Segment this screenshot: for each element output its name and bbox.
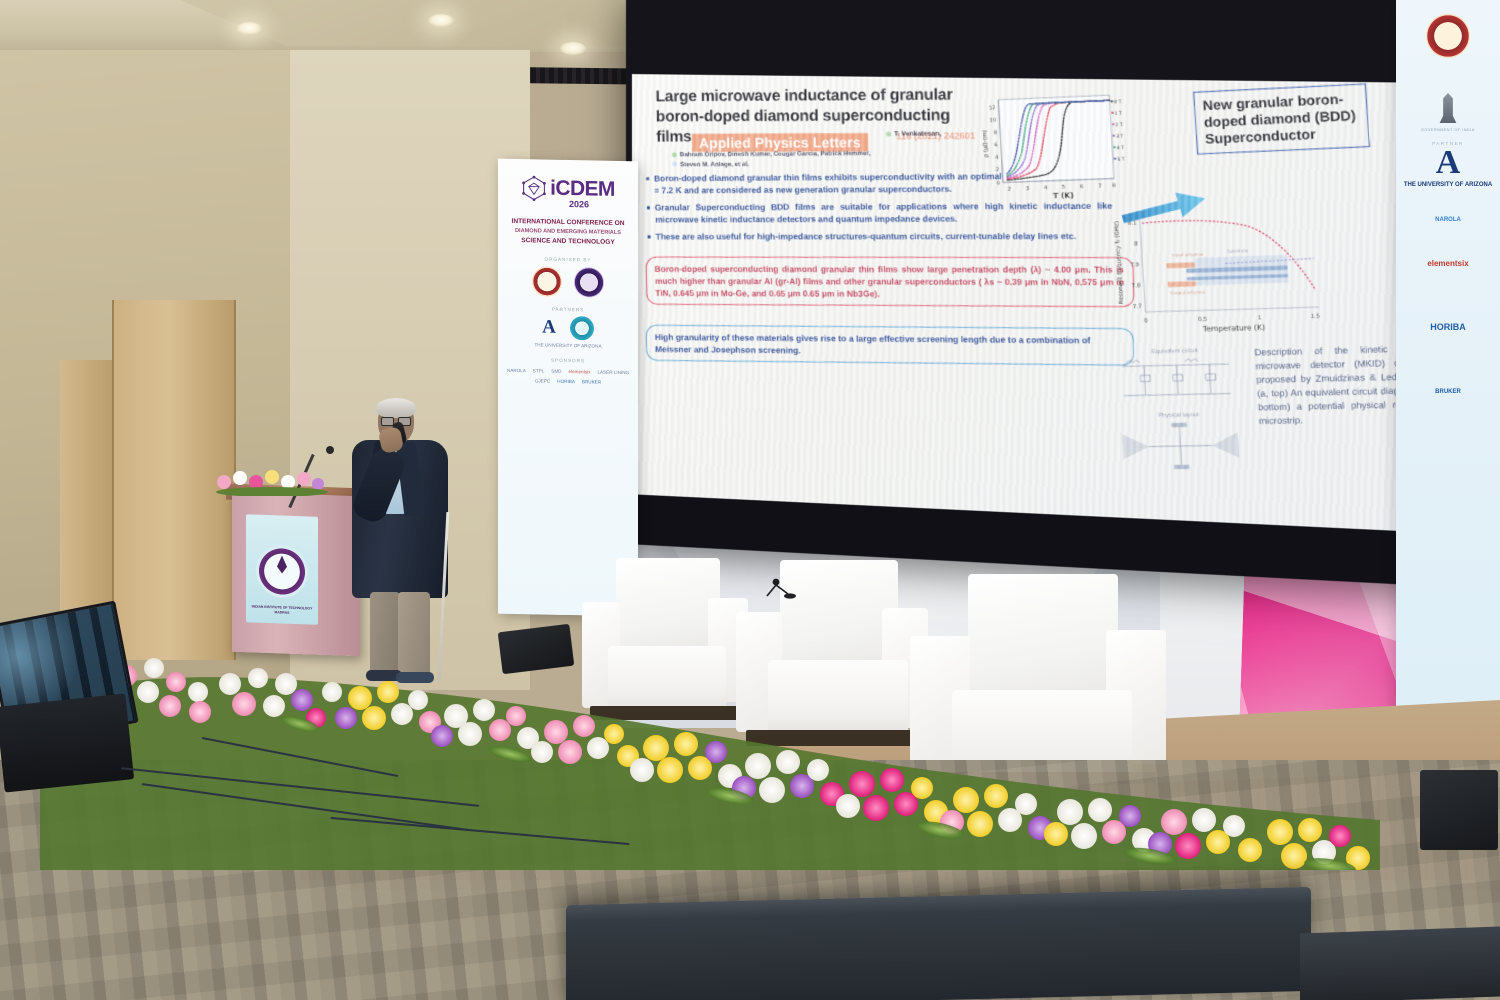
svg-text:3 T: 3 T: [1116, 133, 1124, 140]
svg-text:Input antenna: Input antenna: [1172, 251, 1204, 257]
svg-text:0: 0: [1144, 318, 1148, 324]
speaker-hair: [376, 398, 416, 418]
highlight-box-red: Boron-doped superconducting diamond gran…: [645, 257, 1134, 307]
svg-text:7: 7: [1098, 183, 1102, 189]
downlight-icon: [236, 22, 262, 35]
sponsor-logo: NAROLA: [507, 368, 526, 373]
author-marker-icon: [672, 152, 677, 157]
stage-speaker-box: [498, 624, 575, 674]
partner-name: THE UNIVERSITY OF ARIZONA: [498, 342, 638, 350]
svg-text:2 T: 2 T: [1115, 122, 1123, 129]
svg-text:8: 8: [994, 130, 998, 136]
projection-screen: Large microwave inductance of granular b…: [626, 0, 1468, 588]
svg-text:4: 4: [1044, 185, 1048, 191]
stage-speaker-box: [1420, 770, 1498, 850]
conference-photograph: Large microwave inductance of granular b…: [0, 0, 1500, 1000]
svg-text:1: 1: [1258, 315, 1262, 321]
institute-emblem-icon: [532, 266, 562, 297]
diamond-hexagon-icon: [521, 175, 547, 201]
svg-text:2: 2: [1008, 186, 1012, 192]
arizona-logo-icon: A: [542, 317, 556, 339]
foreground-monitor-secondary[interactable]: [1300, 927, 1500, 1000]
svg-text:8: 8: [1112, 183, 1116, 189]
physical-layout-svg: [1119, 418, 1242, 477]
presentation-slide: Large microwave inductance of granular b…: [632, 74, 1461, 534]
blue-box-text: High granularity of these materials give…: [655, 331, 1125, 360]
sponsor-logo: SMD: [551, 369, 561, 374]
equivalent-circuit-svg: [1115, 353, 1238, 404]
svg-text:7.9: 7.9: [1130, 262, 1139, 269]
society-emblem-icon: [574, 267, 604, 298]
svg-text:1.5: 1.5: [1310, 313, 1320, 320]
government-emblem-icon: [1437, 93, 1459, 123]
svg-text:0 T: 0 T: [1114, 99, 1122, 106]
author-marker-icon: [886, 131, 891, 136]
icdem-acronym: iCDEM: [550, 177, 615, 202]
svg-text:4: 4: [995, 155, 999, 161]
sponsor-logo: NAROLA: [1396, 217, 1500, 225]
sponsor-logo: HORIBA: [1396, 322, 1500, 334]
svg-text:3: 3: [1026, 186, 1030, 192]
sponsor-logo: elementsix: [1396, 259, 1500, 269]
authors-block: Bahram Oripov, Dinesh Kumar, Cougar Garc…: [672, 148, 970, 169]
svg-text:T (K): T (K): [1053, 191, 1074, 200]
downlight-icon: [428, 14, 454, 27]
chart-resistivity-svg: 02 46 810 12 234 567 8 T (K) ρ (μΩ·cm): [975, 90, 1142, 208]
microphone-icon: [326, 446, 334, 454]
podium-flowers: [212, 466, 332, 496]
red-box-text: Boron-doped superconducting diamond gran…: [654, 263, 1124, 301]
chart-resistivity: 02 46 810 12 234 567 8 T (K) ρ (μΩ·cm): [975, 90, 1142, 208]
svg-text:Output antenna: Output antenna: [1170, 289, 1205, 295]
callout-new-superconductor: New granular boron-doped diamond (BDD) S…: [1193, 83, 1370, 155]
arizona-logo-icon: A: [1396, 148, 1500, 179]
stage-monitor-stand: [0, 693, 134, 792]
section-label-organisers: ORGANISED BY: [498, 256, 638, 264]
list-item: These are also useful for high-impedance…: [646, 230, 1113, 243]
downlight-icon: [560, 42, 586, 55]
svg-text:1 T: 1 T: [1115, 110, 1123, 117]
svg-text:0: 0: [996, 180, 1000, 186]
highlight-box-blue: High granularity of these materials give…: [645, 325, 1134, 366]
circuit-diagram-block: Equivalent circuit Physical layout: [1115, 347, 1243, 486]
svg-text:5 T: 5 T: [1117, 156, 1125, 163]
podium-crest: INDIAN INSTITUTE OF TECHNOLOGY MADRAS: [246, 514, 318, 625]
svg-text:6: 6: [994, 142, 998, 148]
svg-text:7.7: 7.7: [1133, 304, 1142, 311]
table-microphone: [760, 578, 806, 600]
svg-text:12: 12: [989, 105, 996, 111]
svg-text:Substrate: Substrate: [1227, 248, 1249, 254]
svg-text:7.8: 7.8: [1131, 283, 1140, 290]
sponsor-logo: GJEPC: [535, 379, 550, 384]
section-label-partner: PARTNERS: [498, 306, 638, 314]
svg-text:ρ (μΩ·cm): ρ (μΩ·cm): [982, 130, 990, 158]
svg-text:4 T: 4 T: [1117, 145, 1125, 152]
sponsor-logo: BRUKER: [582, 379, 601, 384]
conference-subtitle-3: SCIENCE AND TECHNOLOGY: [498, 236, 638, 249]
partner-globe-icon: [570, 316, 594, 340]
conference-banner-left: iCDEM 2026 INTERNATIONAL CONFERENCE ON D…: [498, 159, 638, 617]
authors-line2: T. Venkatesan,: [886, 130, 942, 137]
section-label-sponsors: SPONSORS: [498, 357, 638, 365]
sponsor-logo: BRUKER: [1396, 389, 1500, 397]
sponsor-logo: HORIBA: [557, 379, 575, 384]
svg-text:2: 2: [996, 167, 1000, 173]
sponsor-logo-grid: NAROLA STPL SMD elementsix LASER LINING …: [498, 368, 638, 386]
svg-text:10: 10: [989, 117, 996, 123]
svg-text:Resonant frequency f₀ (GHz): Resonant frequency f₀ (GHz): [1114, 221, 1126, 304]
foreground-monitor[interactable]: [566, 887, 1311, 1000]
svg-text:Temperature (K): Temperature (K): [1202, 323, 1266, 333]
podium-crest-text: INDIAN INSTITUTE OF TECHNOLOGY MADRAS: [250, 604, 314, 616]
author-marker-icon: [672, 162, 677, 167]
sponsor-logo: LASER LINING: [597, 370, 629, 376]
sponsor-logo: elementsix: [569, 369, 591, 374]
partner-name: THE UNIVERSITY OF ARIZONA: [1396, 182, 1500, 190]
svg-text:0.5: 0.5: [1198, 317, 1207, 324]
sponsor-logo: STPL: [533, 368, 545, 373]
svg-text:6: 6: [1080, 184, 1084, 190]
svg-text:8: 8: [1134, 241, 1138, 247]
government-label: GOVERNMENT OF INDIA: [1396, 128, 1500, 132]
institute-emblem-icon: [1426, 14, 1470, 58]
svg-text:5: 5: [1062, 184, 1066, 190]
